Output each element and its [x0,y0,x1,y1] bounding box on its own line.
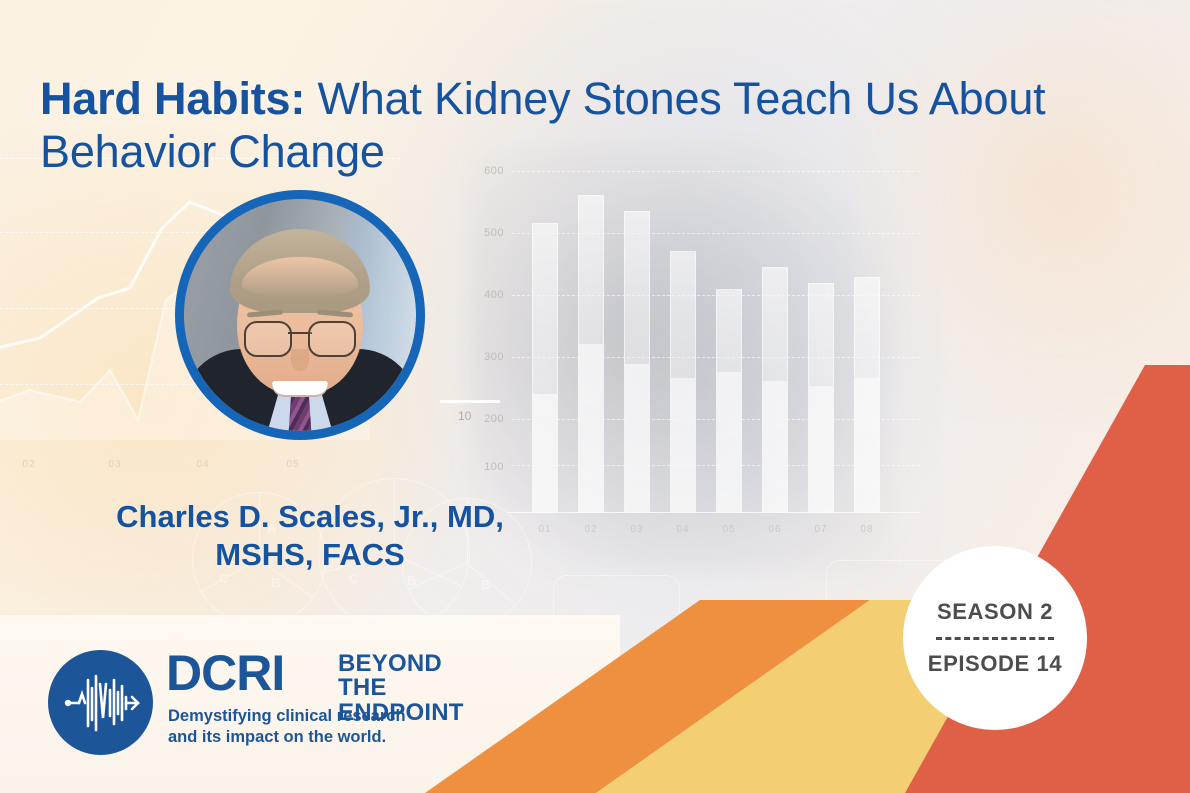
bar-chart-ytick: 300 [470,351,504,363]
waveform-arrow-icon [48,650,153,755]
podcast-episode-poster: 02 03 04 05 600 500 400 300 200 100 01 0… [0,0,1190,793]
bar-chart-ytick: 100 [470,461,504,473]
pie-slice-label: B [271,575,280,590]
line-chart-xtick: 05 [280,459,306,470]
dcri-tagline: Demystifying clinical research and its i… [168,706,406,748]
speaker-name-line-1: Charles D. Scales, Jr., MD, [60,498,560,536]
bar-chart-xtick: 08 [854,524,880,535]
page-title: Hard Habits: What Kidney Stones Teach Us… [40,72,1120,178]
line-chart-xtick: 04 [190,459,216,470]
speaker-name: Charles D. Scales, Jr., MD, MSHS, FACS [60,498,560,574]
bar-chart-bar [670,251,696,513]
bar-chart-bar [624,211,650,513]
season-episode-badge: SEASON 2 EPISODE 14 [903,546,1087,730]
bar-chart-bar [854,277,880,513]
bar-chart-bar [716,289,742,513]
pie-slice-label: B [481,577,490,592]
avatar-smile [272,381,328,397]
dcri-tagline-line-1: Demystifying clinical research [168,706,406,727]
dcri-wordmark: DCRI [166,648,284,698]
bar-chart-ytick: 500 [470,227,504,239]
bar-chart-xtick: 04 [670,524,696,535]
badge-divider [936,637,1054,640]
avatar [175,190,425,440]
axis-value-marker-label: 10 [458,409,500,423]
bar-chart-bar [578,195,604,513]
line-chart-xtick: 02 [16,459,42,470]
background-bar-chart: 600 500 400 300 200 100 01 02 03 04 05 0… [470,135,920,555]
dcri-tagline-line-2: and its impact on the world. [168,727,406,748]
speaker-name-line-2: MSHS, FACS [60,536,560,574]
avatar-nose [291,349,309,371]
bar-chart-xtick: 02 [578,524,604,535]
bar-chart-xtick: 06 [762,524,788,535]
bar-chart-ytick: 400 [470,289,504,301]
bar-chart-xtick: 07 [808,524,834,535]
line-chart-xtick: 03 [102,459,128,470]
bar-chart-bar [532,223,558,513]
season-label: SEASON 2 [937,599,1053,625]
episode-label: EPISODE 14 [928,651,1062,677]
bar-chart-xtick: 03 [624,524,650,535]
bar-chart-bar [808,283,834,513]
bar-chart-bar [762,267,788,513]
dcri-subbrand-line-1: BEYOND THE [338,652,478,701]
axis-value-marker: 10 [440,400,500,423]
dcri-logo: DCRI BEYOND THE ENDPOINT Demystifying cl… [48,648,478,760]
page-title-emphasis: Hard Habits: [40,73,305,124]
bar-chart-xtick: 05 [716,524,742,535]
